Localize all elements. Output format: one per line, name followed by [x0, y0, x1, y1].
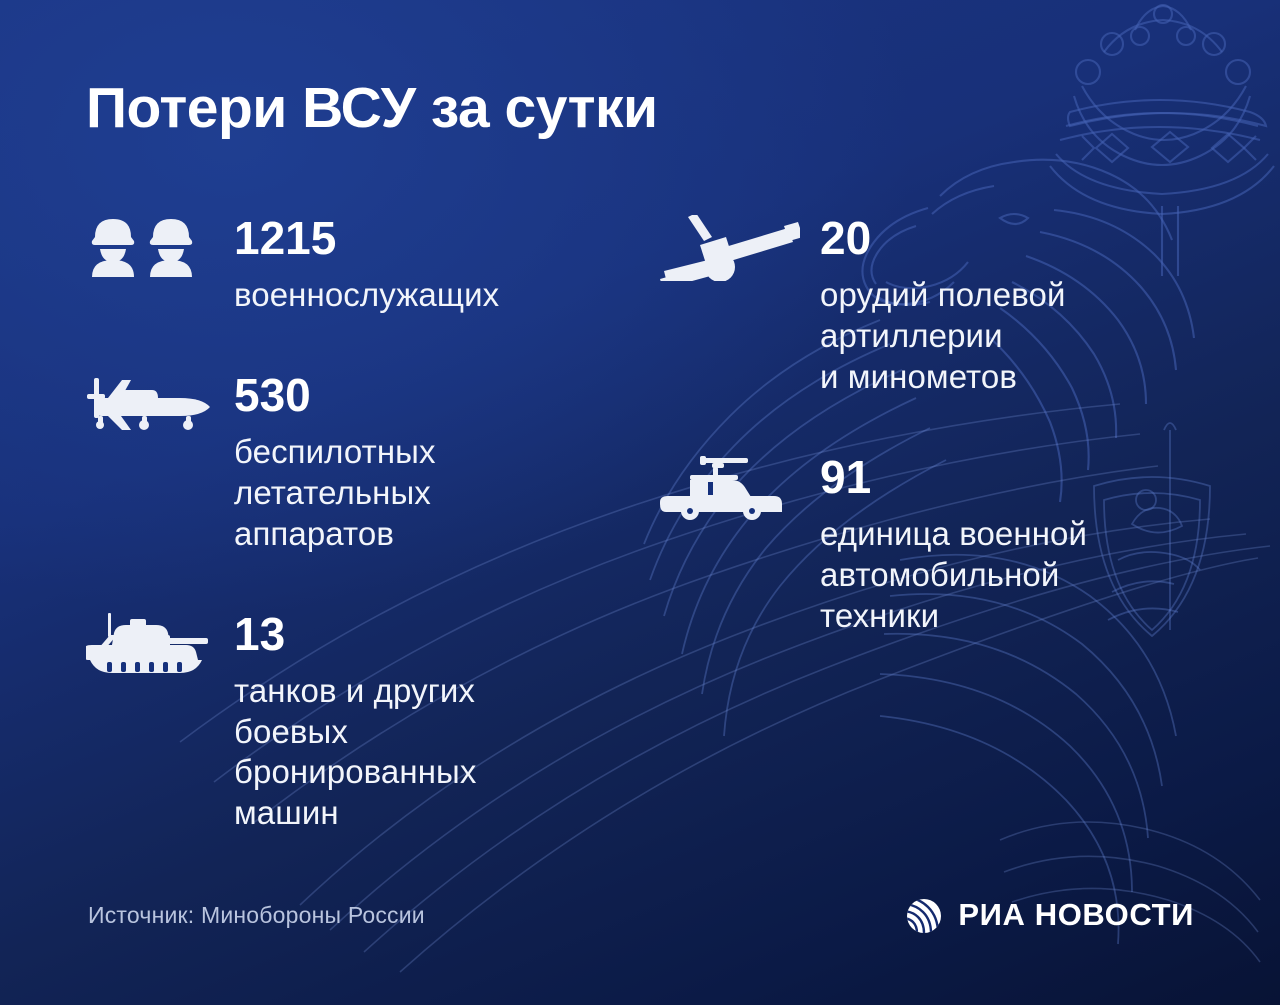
stat-label-line: единица военной [820, 514, 1180, 555]
soldiers-icon [86, 215, 234, 277]
stat-label-line: боевых [234, 712, 606, 753]
stat-item-tanks: 13 танков и других боевых бронированных … [86, 611, 606, 835]
stat-label-line: беспилотных [234, 432, 606, 473]
stat-value: 13 [234, 611, 606, 657]
stat-item-artillery: 20 орудий полевой артиллерии и минометов [660, 215, 1180, 398]
stat-label-line: танков и других [234, 671, 606, 712]
stat-label: военнослужащих [234, 275, 606, 316]
military-vehicle-icon [660, 454, 810, 520]
stat-value: 1215 [234, 215, 606, 261]
stats-column-right: 20 орудий полевой артиллерии и минометов [660, 215, 1180, 636]
source-note: Источник: Минобороны России [88, 902, 425, 929]
stat-label: единица военной автомобильной техники [820, 514, 1180, 637]
stat-label-line: техники [820, 596, 1180, 637]
stat-value: 91 [820, 454, 1180, 500]
stat-label-line: артиллерии [820, 316, 1180, 357]
stat-item-vehicles: 91 единица военной автомобильной техники [660, 454, 1180, 637]
stats-column-left: 1215 военнослужащих [86, 215, 606, 834]
brand-name: РИА НОВОСТИ [958, 897, 1194, 933]
tank-icon [86, 611, 234, 677]
stat-body: 1215 военнослужащих [234, 215, 606, 316]
stat-label-line: и минометов [820, 357, 1180, 398]
stat-label: орудий полевой артиллерии и минометов [820, 275, 1180, 398]
page-title: Потери ВСУ за сутки [86, 78, 658, 140]
stat-item-uav: 530 беспилотных летательных аппаратов [86, 372, 606, 555]
stat-label-line: летательных [234, 473, 606, 514]
stat-body: 530 беспилотных летательных аппаратов [234, 372, 606, 555]
stat-label-line: машин [234, 793, 606, 834]
stat-label-line: бронированных [234, 752, 606, 793]
stat-value: 530 [234, 372, 606, 418]
brand-logo: РИА НОВОСТИ [904, 895, 1194, 935]
stat-item-personnel: 1215 военнослужащих [86, 215, 606, 316]
stat-label: беспилотных летательных аппаратов [234, 432, 606, 555]
stat-label: танков и других боевых бронированных маш… [234, 671, 606, 835]
stat-label-line: военнослужащих [234, 275, 606, 316]
stat-label-line: орудий полевой [820, 275, 1180, 316]
stat-value: 20 [820, 215, 1180, 261]
stat-body: 13 танков и других боевых бронированных … [234, 611, 606, 835]
infographic-poster: .wl { fill:none; stroke:#4663b4; stroke-… [0, 0, 1280, 1005]
stat-label-line: аппаратов [234, 514, 606, 555]
stat-body: 20 орудий полевой артиллерии и минометов [820, 215, 1180, 398]
stat-label-line: автомобильной [820, 555, 1180, 596]
stat-body: 91 единица военной автомобильной техники [820, 454, 1180, 637]
drone-icon [86, 372, 234, 430]
artillery-icon [660, 215, 810, 281]
ria-globe-icon [904, 895, 944, 935]
